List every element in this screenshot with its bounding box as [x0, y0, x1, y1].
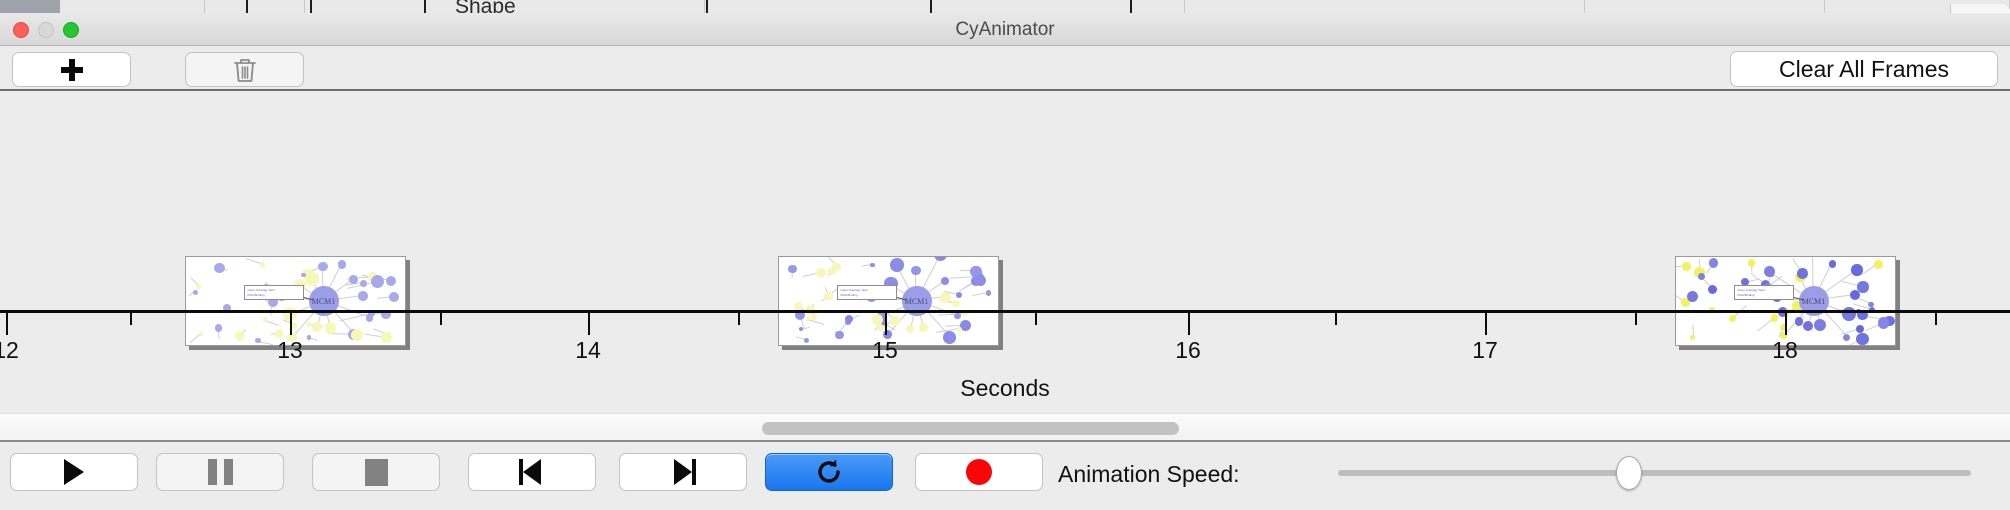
network-node: [941, 277, 949, 285]
network-node: [1709, 258, 1719, 268]
network-tooltip: Gene Ontology TermDNA Binding: [244, 285, 304, 300]
cyanimator-window: Shape CyAnimator Clear All Frames MCM1Ge…: [0, 0, 2010, 510]
ruler-tick: [1785, 313, 1787, 335]
network-node: [832, 263, 840, 271]
skip-start-button[interactable]: [468, 453, 596, 491]
network-node: [371, 275, 384, 288]
network-tooltip: Gene Ontology TermDNA Binding: [1734, 285, 1794, 300]
ruler-tick-label: 15: [872, 337, 898, 364]
ruler-tick: [588, 313, 590, 335]
ruler-tick: [1188, 313, 1190, 335]
stop-icon: [365, 459, 388, 486]
network-node: [816, 268, 826, 278]
axis-title: Seconds: [0, 375, 2010, 402]
scrollbar-thumb[interactable]: [762, 422, 1179, 435]
skip-back-icon: [519, 459, 545, 485]
ruler-tick: [885, 313, 887, 335]
ruler-tick-label: 18: [1772, 337, 1798, 364]
title-bar: CyAnimator: [0, 13, 2010, 46]
pause-button[interactable]: [156, 453, 284, 491]
clear-all-frames-button[interactable]: Clear All Frames: [1730, 51, 1998, 87]
network-node: [1829, 260, 1836, 267]
record-icon: [966, 459, 992, 485]
plus-icon: [61, 59, 83, 81]
network-node: [1748, 259, 1756, 267]
ruler-tick-label: 14: [575, 337, 601, 364]
network-node: [940, 292, 951, 303]
skip-end-button[interactable]: [619, 453, 747, 491]
network-node: [1687, 291, 1698, 302]
network-node: [389, 292, 399, 302]
animation-speed-slider[interactable]: [1338, 470, 1971, 476]
timeline-panel[interactable]: MCM1Gene Ontology TermDNA BindingMCM1 — …: [0, 91, 2010, 413]
network-node: [788, 265, 796, 273]
stop-button[interactable]: [312, 453, 440, 491]
network-node: [1708, 285, 1717, 294]
playback-bar: Animation Speed:: [0, 444, 2010, 510]
timeline-scrollbar[interactable]: [0, 413, 2010, 442]
ruler-tick: [1485, 313, 1487, 335]
network-node: [338, 260, 347, 269]
network-node: [952, 300, 959, 307]
ruler-tick: [1335, 313, 1337, 325]
ruler-tick-label: 12: [0, 337, 19, 364]
network-node: [193, 290, 198, 295]
network-node: [1851, 264, 1862, 275]
network-node: [1682, 262, 1691, 271]
network-node: [214, 263, 224, 273]
ruler-baseline: [0, 310, 2010, 313]
network-node: [386, 276, 396, 286]
network-node: [260, 262, 265, 267]
ruler-tick: [1635, 313, 1637, 325]
network-node: [986, 290, 992, 296]
record-button[interactable]: [915, 453, 1043, 491]
timeline-ruler[interactable]: 12131415161718 Seconds: [0, 310, 2010, 413]
delete-frame-button[interactable]: [185, 52, 304, 87]
network-tooltip: Gene Ontology TermDNA Binding: [837, 285, 897, 300]
ruler-tick: [1035, 313, 1037, 325]
network-node: [1874, 260, 1883, 269]
ruler-tick: [1935, 313, 1937, 325]
play-button[interactable]: [10, 453, 138, 491]
pause-icon: [208, 459, 233, 485]
frame-track[interactable]: MCM1Gene Ontology TermDNA BindingMCM1 — …: [0, 91, 2010, 310]
network-node: [1857, 281, 1868, 292]
frame-toolbar: Clear All Frames: [0, 46, 2010, 91]
network-node: [956, 292, 963, 299]
trash-icon: [232, 56, 258, 84]
network-node: [349, 275, 358, 284]
network-node: [196, 284, 201, 289]
ruler-tick-label: 17: [1472, 337, 1498, 364]
network-node: [975, 275, 986, 286]
ruler-tick-label: 16: [1175, 337, 1201, 364]
ruler-tick: [6, 313, 8, 335]
network-node: [360, 280, 367, 287]
network-node: [358, 291, 368, 301]
loop-button[interactable]: [765, 453, 893, 491]
background-window-strip: Shape: [0, 0, 2010, 13]
network-node: [890, 258, 903, 271]
skip-forward-icon: [670, 459, 696, 485]
ruler-tick: [290, 313, 292, 335]
ruler-tick-label: 13: [277, 337, 303, 364]
network-node: [911, 266, 921, 276]
network-node: [1797, 268, 1808, 279]
network-node: [870, 263, 874, 267]
play-icon: [64, 459, 84, 485]
ruler-tick: [440, 313, 442, 325]
network-node: [1769, 271, 1775, 277]
slider-track: [1338, 470, 1971, 476]
ruler-tick: [130, 313, 132, 325]
page-title: CyAnimator: [0, 13, 2010, 46]
slider-thumb[interactable]: [1616, 456, 1642, 490]
network-node: [318, 262, 328, 272]
animation-speed-label: Animation Speed:: [1058, 461, 1240, 488]
add-frame-button[interactable]: [12, 52, 131, 87]
network-node: [794, 302, 803, 311]
loop-icon: [814, 457, 844, 487]
ruler-tick: [738, 313, 740, 325]
clear-all-frames-label: Clear All Frames: [1779, 56, 1949, 83]
background-window-label: Shape: [455, 0, 516, 13]
network-node: [824, 292, 833, 301]
